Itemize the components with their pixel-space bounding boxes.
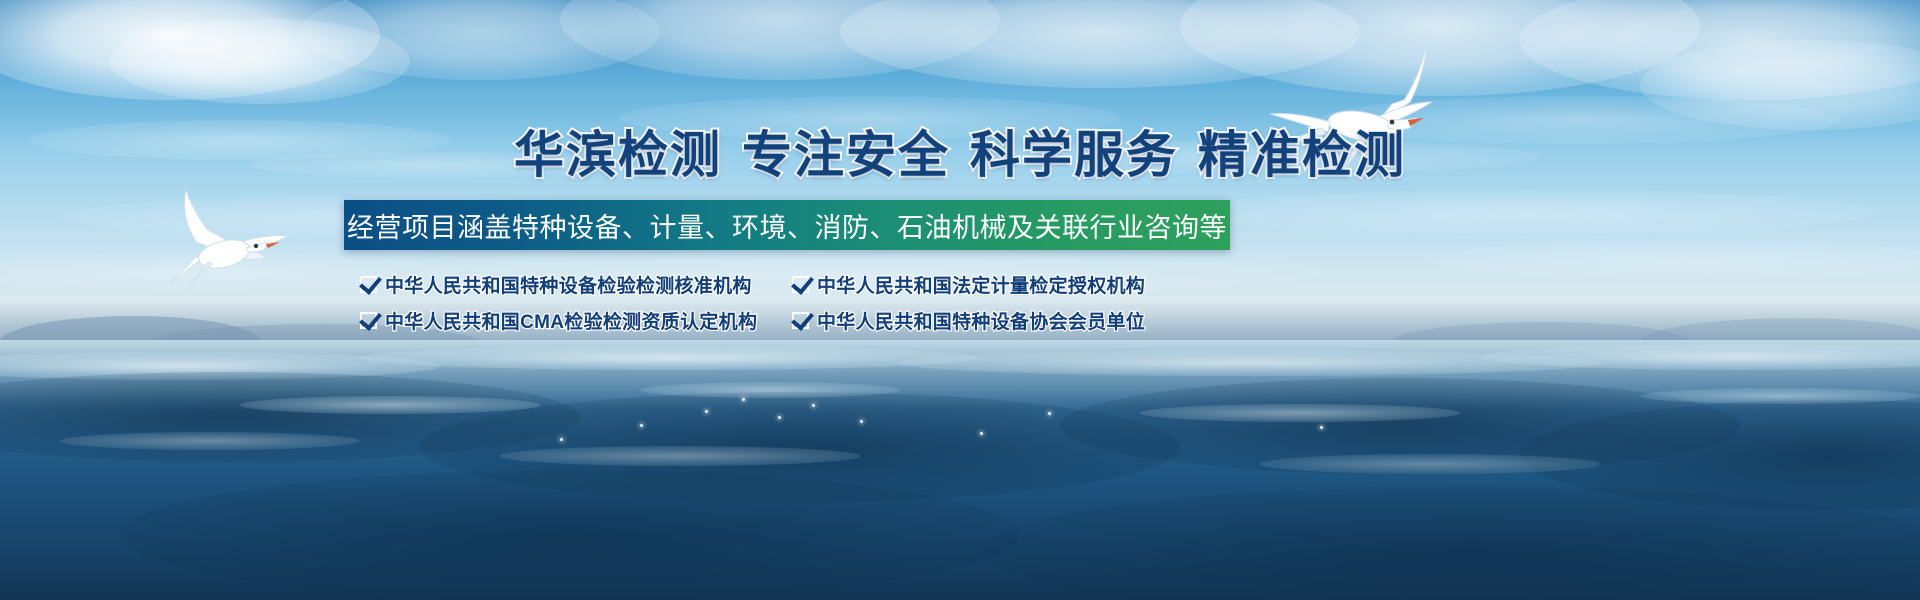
checkbox-checked-icon	[360, 312, 377, 329]
headline-segment-4: 精准检测	[1198, 127, 1406, 183]
headline-segment-2: 专注安全	[742, 127, 950, 183]
certification-row: 中华人民共和国特种设备检验检测核准机构 中华人民共和国法定计量检定授权机构	[360, 268, 1210, 300]
banner-content: 华滨检测专注安全科学服务精准检测 经营项目涵盖特种设备、计量、环境、消防、石油机…	[0, 0, 1920, 600]
list-item: 中华人民共和国CMA检验检测资质认定机构	[360, 307, 792, 334]
hero-banner: 华滨检测专注安全科学服务精准检测 经营项目涵盖特种设备、计量、环境、消防、石油机…	[0, 0, 1920, 600]
subtitle-text: 经营项目涵盖特种设备、计量、环境、消防、石油机械及关联行业咨询等	[347, 206, 1227, 245]
certification-label: 中华人民共和国CMA检验检测资质认定机构	[385, 307, 757, 334]
certifications-list: 中华人民共和国特种设备检验检测核准机构 中华人民共和国法定计量检定授权机构 中华…	[360, 268, 1210, 340]
certification-label: 中华人民共和国法定计量检定授权机构	[817, 271, 1145, 298]
certification-label: 中华人民共和国特种设备检验检测核准机构	[385, 271, 752, 298]
headline-segment-1: 华滨检测	[514, 127, 722, 183]
certification-row: 中华人民共和国CMA检验检测资质认定机构 中华人民共和国特种设备协会会员单位	[360, 304, 1210, 336]
list-item: 中华人民共和国法定计量检定授权机构	[792, 271, 1210, 298]
subtitle-ribbon: 经营项目涵盖特种设备、计量、环境、消防、石油机械及关联行业咨询等	[344, 200, 1230, 250]
certification-label: 中华人民共和国特种设备协会会员单位	[817, 307, 1145, 334]
headline-segment-3: 科学服务	[970, 127, 1178, 183]
page-title: 华滨检测专注安全科学服务精准检测	[0, 124, 1920, 186]
checkbox-checked-icon	[792, 276, 809, 293]
list-item: 中华人民共和国特种设备检验检测核准机构	[360, 271, 792, 298]
list-item: 中华人民共和国特种设备协会会员单位	[792, 307, 1210, 334]
checkbox-checked-icon	[360, 276, 377, 293]
checkbox-checked-icon	[792, 312, 809, 329]
